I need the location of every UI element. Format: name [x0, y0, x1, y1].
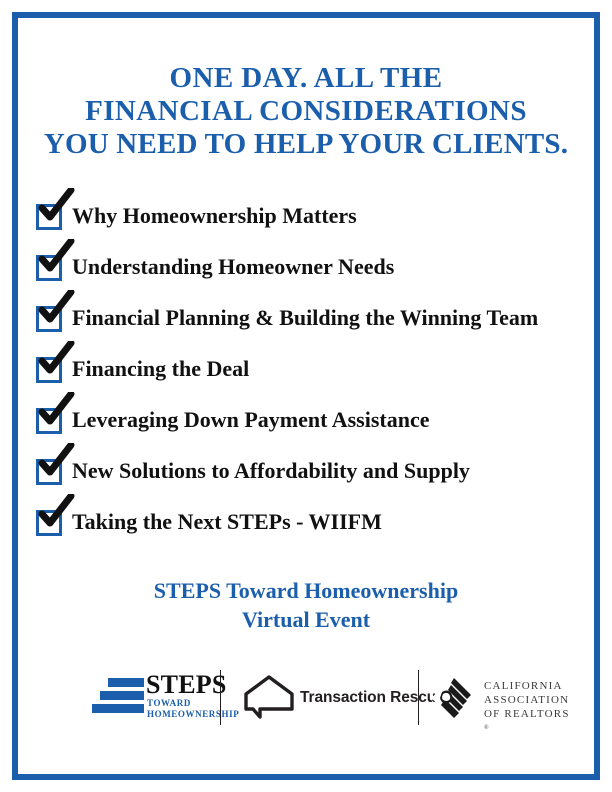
list-item-label: Leveraging Down Payment Assistance: [72, 405, 429, 435]
session-topics-checklist: Why Homeownership Matters Understanding …: [36, 201, 596, 558]
page-title: ONE DAY. ALL THE FINANCIAL CONSIDERATION…: [30, 62, 582, 161]
flyer-page: ONE DAY. ALL THE FINANCIAL CONSIDERATION…: [0, 0, 612, 792]
list-item-label: Why Homeownership Matters: [72, 201, 357, 231]
stair-bar-top: [108, 678, 144, 687]
car-line-1: CALIFORNIA: [484, 679, 570, 693]
list-item[interactable]: Financial Planning & Building the Winnin…: [36, 303, 596, 354]
event-subtitle-line-1: STEPS Toward Homeownership: [30, 576, 582, 605]
checkbox-icon[interactable]: [36, 306, 62, 332]
list-item[interactable]: Understanding Homeowner Needs: [36, 252, 596, 303]
list-item[interactable]: Leveraging Down Payment Assistance: [36, 405, 596, 456]
list-item-label: Taking the Next STEPs - WIIFM: [72, 507, 382, 537]
checkbox-icon[interactable]: [36, 408, 62, 434]
list-item-label: New Solutions to Affordability and Suppl…: [72, 456, 470, 486]
checkbox-icon[interactable]: [36, 459, 62, 485]
checkbox-icon[interactable]: [36, 204, 62, 230]
list-item[interactable]: Why Homeownership Matters: [36, 201, 596, 252]
event-subtitle: STEPS Toward Homeownership Virtual Event: [30, 576, 582, 634]
house-speech-bubble-icon: [242, 674, 296, 720]
car-wordmark: CALIFORNIA ASSOCIATION OF REALTORS®: [484, 679, 570, 735]
steps-wordmark: STEPS: [146, 672, 227, 698]
list-item-label: Financial Planning & Building the Winnin…: [72, 303, 538, 333]
headline-line-3: YOU NEED TO HELP YOUR CLIENTS.: [30, 128, 582, 161]
checkbox-icon[interactable]: [36, 357, 62, 383]
registered-symbol: ®: [484, 721, 570, 735]
transaction-rescue-wordmark: Transaction Rescue™: [300, 686, 452, 707]
steps-stairs-icon: [92, 676, 144, 716]
headline-line-1: ONE DAY. ALL THE: [30, 62, 582, 95]
list-item[interactable]: New Solutions to Affordability and Suppl…: [36, 456, 596, 507]
car-diamond-icon: [430, 674, 478, 722]
transaction-rescue-logo: Transaction Rescue™: [242, 674, 412, 720]
checkbox-icon[interactable]: [36, 510, 62, 536]
list-item[interactable]: Taking the Next STEPs - WIIFM: [36, 507, 596, 558]
stair-bar-middle: [100, 691, 144, 700]
footer-logo-bar: STEPS TOWARD HOMEOWNERSHIP Transaction R…: [30, 658, 582, 738]
list-item-label: Understanding Homeowner Needs: [72, 252, 394, 282]
headline-line-2: FINANCIAL CONSIDERATIONS: [30, 95, 582, 128]
logo-divider: [220, 670, 221, 725]
logo-divider: [418, 670, 419, 725]
list-item-label: Financing the Deal: [72, 354, 249, 384]
stair-bar-bottom: [92, 704, 144, 713]
car-line-2: ASSOCIATION: [484, 693, 570, 707]
steps-tagline-line-2: HOMEOWNERSHIP: [147, 709, 239, 720]
checkbox-icon[interactable]: [36, 255, 62, 281]
car-line-3: OF REALTORS: [484, 707, 570, 721]
list-item[interactable]: Financing the Deal: [36, 354, 596, 405]
steps-tagline-line-1: TOWARD: [147, 698, 239, 709]
car-logo: CALIFORNIA ASSOCIATION OF REALTORS®: [430, 668, 580, 726]
transaction-rescue-text: Transaction Rescue: [300, 689, 445, 706]
steps-tagline: TOWARD HOMEOWNERSHIP: [147, 698, 239, 720]
car-line-3-wrap: OF REALTORS®: [484, 707, 570, 735]
event-subtitle-line-2: Virtual Event: [30, 605, 582, 634]
